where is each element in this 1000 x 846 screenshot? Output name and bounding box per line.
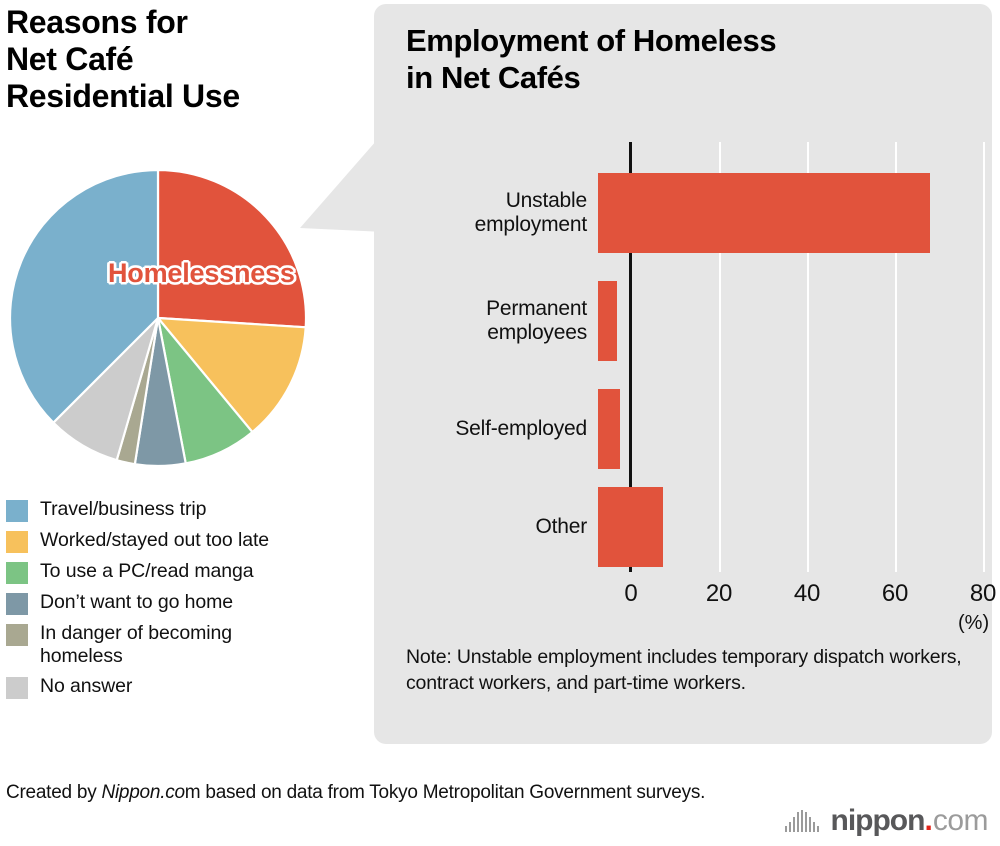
infographic-canvas: Employment of Homeless in Net Cafés Unst… — [0, 0, 1000, 846]
credit-suffix: m based on data from Tokyo Metropolitan … — [185, 782, 705, 803]
chart-note: Note: Unstable employment includes tempo… — [406, 644, 974, 696]
right-panel: Employment of Homeless in Net Cafés Unst… — [374, 4, 992, 744]
bar-track-unstable-employment — [598, 164, 988, 262]
pie-callout-label: Homelessness — [108, 258, 295, 289]
bar-label-self-employed: Self-employed — [388, 417, 598, 441]
logo-tld: com — [933, 806, 988, 836]
legend-swatch-in-danger-of-becoming-homeless — [6, 624, 28, 646]
legend-swatch-no-answer — [6, 677, 28, 699]
legend-item-travel-business-trip: Travel/business trip — [6, 498, 358, 522]
nippon-com-logo: nippon . com — [785, 806, 989, 836]
bar-chart: Unstable employment Permanent employees … — [388, 142, 988, 602]
pie-chart — [8, 168, 308, 468]
legend-item-no-answer: No answer — [6, 675, 358, 699]
legend-swatch-dont-want-to-go-home — [6, 593, 28, 615]
legend-swatch-worked-stayed-out-too-late — [6, 531, 28, 553]
page-title: Reasons for Net Café Residential Use — [6, 4, 356, 115]
bar-unstable-employment — [598, 173, 930, 253]
bar-track-self-employed — [598, 380, 988, 478]
page-title-line-1: Reasons for — [6, 4, 356, 41]
legend-label-travel-business-trip: Travel/business trip — [40, 498, 206, 521]
bar-row-permanent-employees: Permanent employees — [388, 272, 988, 370]
bar-label-other: Other — [388, 515, 598, 539]
pie-slice — [158, 170, 306, 327]
legend-item-dont-want-to-go-home: Don’t want to go home — [6, 591, 358, 615]
xtick-label-80: 80 — [953, 580, 1000, 608]
page-title-line-2: Net Café — [6, 41, 356, 78]
bar-track-permanent-employees — [598, 272, 988, 370]
legend-label-use-pc-read-manga: To use a PC/read manga — [40, 560, 254, 583]
pie-slice-group — [10, 170, 306, 466]
legend-swatch-travel-business-trip — [6, 500, 28, 522]
panel-title-line-1: Employment of Homeless — [406, 22, 966, 59]
bar-permanent-employees — [598, 281, 617, 361]
bar-label-unstable-employment: Unstable employment — [388, 189, 598, 236]
legend-label-no-answer: No answer — [40, 675, 132, 698]
legend-label-worked-stayed-out-too-late: Worked/stayed out too late — [40, 529, 269, 552]
credit-source-italic: Nippon.co — [101, 782, 184, 803]
legend-item-worked-stayed-out-too-late: Worked/stayed out too late — [6, 529, 358, 553]
legend-label-in-danger-of-becoming-homeless: In danger of becoming homeless — [40, 622, 310, 668]
xtick-label-40: 40 — [777, 580, 837, 608]
legend-swatch-use-pc-read-manga — [6, 562, 28, 584]
pie-legend: Travel/business trip Worked/stayed out t… — [6, 498, 358, 706]
page-title-line-3: Residential Use — [6, 78, 356, 115]
callout-pointer — [300, 132, 384, 232]
pie-chart-svg — [8, 168, 308, 468]
panel-title: Employment of Homeless in Net Cafés — [406, 22, 966, 96]
xtick-label-0: 0 — [601, 580, 661, 608]
logo-bars-icon — [785, 810, 821, 832]
legend-item-use-pc-read-manga: To use a PC/read manga — [6, 560, 358, 584]
bar-row-self-employed: Self-employed — [388, 380, 988, 478]
legend-label-dont-want-to-go-home: Don’t want to go home — [40, 591, 233, 614]
bar-other — [598, 487, 663, 567]
bar-label-permanent-employees: Permanent employees — [388, 297, 598, 344]
bar-track-other — [598, 478, 988, 576]
bar-self-employed — [598, 389, 620, 469]
panel-title-line-2: in Net Cafés — [406, 59, 966, 96]
legend-item-in-danger-of-becoming-homeless: In danger of becoming homeless — [6, 622, 358, 668]
credit-line: Created by Nippon.com based on data from… — [6, 780, 726, 806]
logo-dot: . — [924, 806, 932, 836]
bar-row-other: Other — [388, 478, 988, 576]
credit-prefix: Created by — [6, 782, 101, 803]
axis-unit-label: (%) — [958, 612, 989, 635]
bar-row-unstable-employment: Unstable employment — [388, 164, 988, 262]
xtick-label-20: 20 — [689, 580, 749, 608]
logo-wordmark: nippon — [831, 806, 925, 836]
xtick-label-60: 60 — [865, 580, 925, 608]
